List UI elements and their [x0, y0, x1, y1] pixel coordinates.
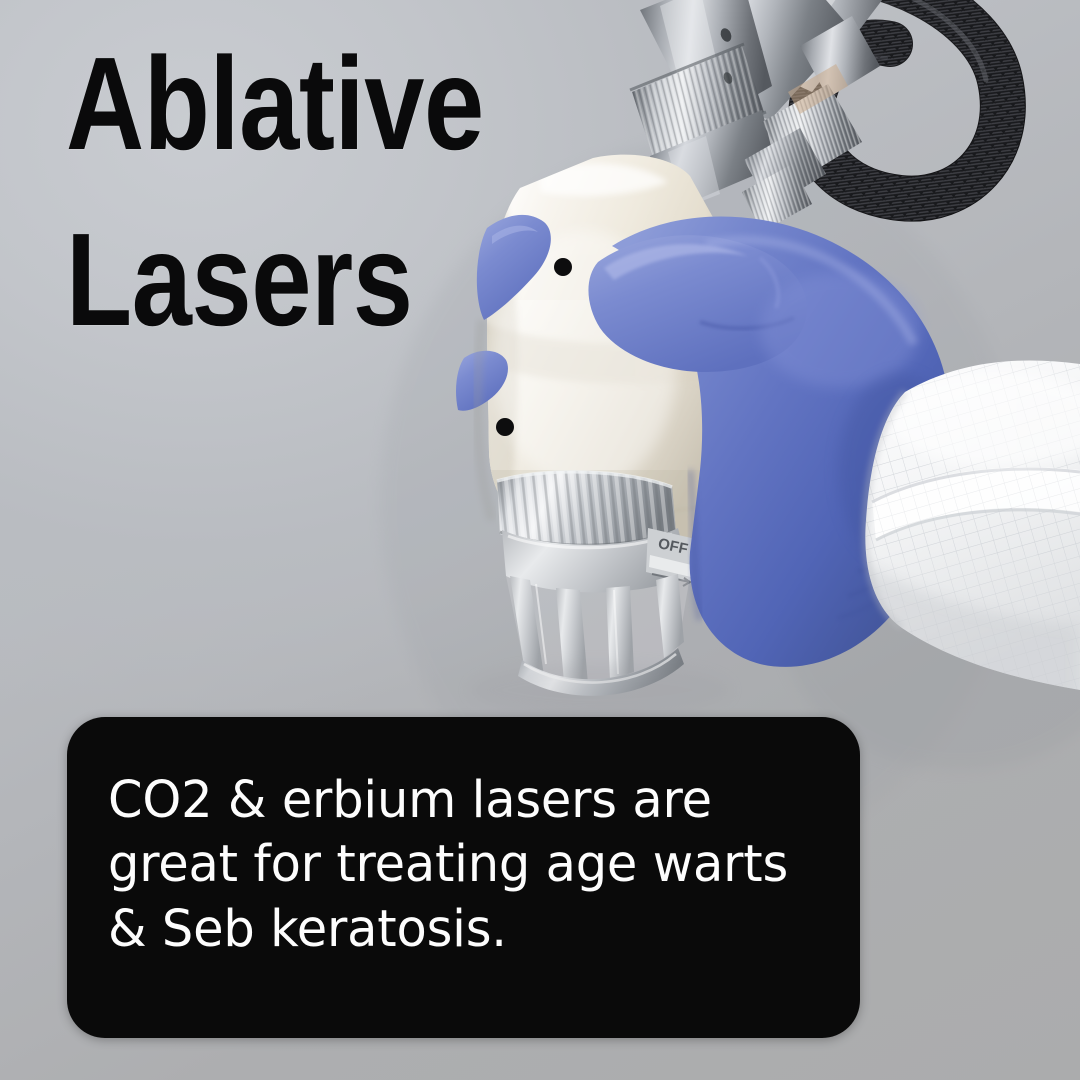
title-line-1: Ablative — [66, 40, 484, 168]
nozzle-assembly: OFF — [497, 471, 700, 696]
poster-title: Ablative Lasers — [66, 40, 576, 344]
poster-canvas: OFF — [0, 0, 1080, 1080]
caption-card: CO2 & erbium lasers are great for treati… — [67, 717, 860, 1038]
caption-text: CO2 & erbium lasers are great for treati… — [108, 769, 795, 962]
screw-hole — [496, 418, 514, 436]
title-line-2: Lasers — [66, 216, 484, 344]
